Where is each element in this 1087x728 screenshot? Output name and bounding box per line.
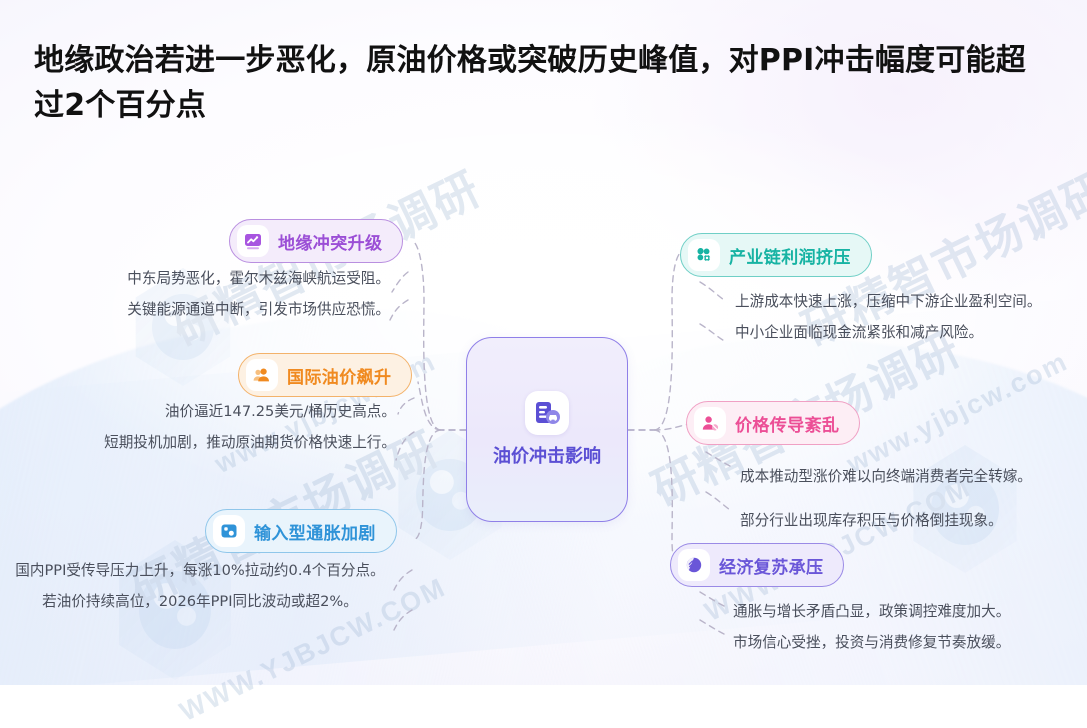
trending-chart-icon [237,225,269,257]
desc-line: 中东局势恶化，霍尔木兹海峡航运受阻。 [20,263,390,294]
desc-line: 成本推动型涨价难以向终端消费者完全转嫁。 [740,455,1080,499]
branch-label-geo-conflict: 地缘冲突升级 [278,229,382,254]
branch-label-price-transmission: 价格传导紊乱 [735,411,839,436]
pie-sphere-icon [678,549,710,581]
people-icon [246,359,278,391]
user-block-icon [694,407,726,439]
branch-label-recovery-pressure: 经济复苏承压 [719,553,823,578]
desc-line: 若油价持续高位，2026年PPI同比波动或超2%。 [10,586,390,617]
desc-line: 油价逼近147.25美元/桶历史高点。 [10,396,396,427]
desc-line: 上游成本快速上涨，压缩中下游企业盈利空间。 [735,286,1065,317]
branch-desc-recovery-pressure: 通胀与增长矛盾凸显，政策调控难度加大。 市场信心受挫，投资与消费修复节奏放缓。 [733,596,1073,658]
branch-node-imported-inflation[interactable]: 输入型通胀加剧 [205,509,397,553]
branch-label-imported-inflation: 输入型通胀加剧 [254,519,376,544]
branch-desc-price-transmission: 成本推动型涨价难以向终端消费者完全转嫁。 部分行业出现库存积压与价格倒挂现象。 [740,455,1080,543]
branch-label-oil-price-surge: 国际油价飙升 [287,363,391,388]
desc-line: 通胀与增长矛盾凸显，政策调控难度加大。 [733,596,1073,627]
branch-node-supply-chain-margin[interactable]: 产业链利润挤压 [680,233,872,277]
desc-line: 国内PPI受传导压力上升，每涨10%拉动约0.4个百分点。 [10,555,390,586]
branch-label-supply-chain-margin: 产业链利润挤压 [729,243,851,268]
desc-line: 部分行业出现库存积压与价格倒挂现象。 [740,499,1080,543]
branch-desc-oil-price-surge: 油价逼近147.25美元/桶历史高点。 短期投机加剧，推动原油期货价格快速上行。 [10,396,396,458]
grid-gear-icon [688,239,720,271]
branch-desc-supply-chain-margin: 上游成本快速上涨，压缩中下游企业盈利空间。 中小企业面临现金流紧张和减产风险。 [735,286,1065,348]
branch-node-price-transmission[interactable]: 价格传导紊乱 [686,401,860,445]
branch-desc-imported-inflation: 国内PPI受传导压力上升，每涨10%拉动约0.4个百分点。 若油价持续高位，20… [10,555,390,617]
desc-line: 中小企业面临现金流紧张和减产风险。 [735,317,1065,348]
branch-node-recovery-pressure[interactable]: 经济复苏承压 [670,543,844,587]
image-photo-icon [213,515,245,547]
desc-line: 短期投机加剧，推动原油期货价格快速上行。 [10,427,396,458]
mindmap: 油价冲击影响 地缘冲突升级 中东局势恶化，霍尔木兹海峡航运受阻。 关键能源通道中… [0,0,1087,685]
desc-line: 市场信心受挫，投资与消费修复节奏放缓。 [733,627,1073,658]
document-car-icon [525,391,569,435]
branch-node-oil-price-surge[interactable]: 国际油价飙升 [238,353,412,397]
center-node[interactable]: 油价冲击影响 [466,337,628,522]
desc-line: 关键能源通道中断，引发市场供应恐慌。 [20,294,390,325]
branch-desc-geo-conflict: 中东局势恶化，霍尔木兹海峡航运受阻。 关键能源通道中断，引发市场供应恐慌。 [20,263,390,325]
center-node-label: 油价冲击影响 [493,444,601,469]
branch-node-geo-conflict[interactable]: 地缘冲突升级 [229,219,403,263]
